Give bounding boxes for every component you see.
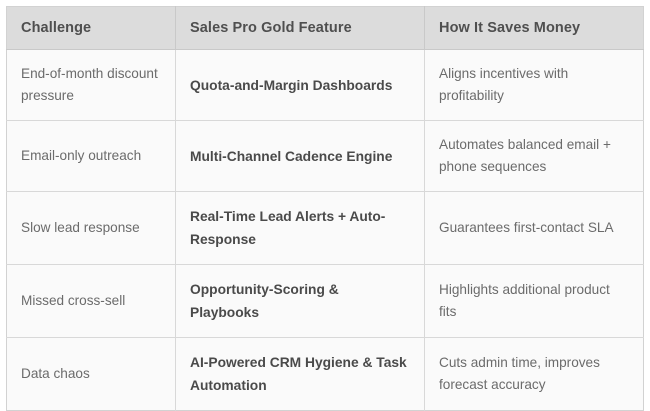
comparison-table-container: Challenge Sales Pro Gold Feature How It … — [6, 6, 643, 411]
column-header-feature: Sales Pro Gold Feature — [176, 7, 425, 50]
table-body: End-of-month discount pressure Quota-and… — [7, 50, 644, 411]
cell-challenge: Data chaos — [7, 338, 176, 411]
cell-savings: Highlights additional product fits — [425, 265, 644, 338]
cell-feature: Opportunity-Scoring & Playbooks — [176, 265, 425, 338]
cell-challenge: Email-only outreach — [7, 121, 176, 192]
table-row: Data chaos AI-Powered CRM Hygiene & Task… — [7, 338, 644, 411]
cell-savings: Guarantees first-contact SLA — [425, 192, 644, 265]
cell-savings: Aligns incentives with profitability — [425, 50, 644, 121]
table-row: Email-only outreach Multi-Channel Cadenc… — [7, 121, 644, 192]
table-header: Challenge Sales Pro Gold Feature How It … — [7, 7, 644, 50]
cell-challenge: Missed cross-sell — [7, 265, 176, 338]
cell-savings: Automates balanced email + phone sequenc… — [425, 121, 644, 192]
table-row: Missed cross-sell Opportunity-Scoring & … — [7, 265, 644, 338]
cell-feature: Real-Time Lead Alerts + Auto-Response — [176, 192, 425, 265]
table-row: End-of-month discount pressure Quota-and… — [7, 50, 644, 121]
table-header-row: Challenge Sales Pro Gold Feature How It … — [7, 7, 644, 50]
cell-feature: Quota-and-Margin Dashboards — [176, 50, 425, 121]
cell-challenge: Slow lead response — [7, 192, 176, 265]
cell-feature: AI-Powered CRM Hygiene & Task Automation — [176, 338, 425, 411]
table-row: Slow lead response Real-Time Lead Alerts… — [7, 192, 644, 265]
sales-pro-gold-comparison-table: Challenge Sales Pro Gold Feature How It … — [6, 6, 644, 411]
column-header-savings: How It Saves Money — [425, 7, 644, 50]
cell-feature: Multi-Channel Cadence Engine — [176, 121, 425, 192]
column-header-challenge: Challenge — [7, 7, 176, 50]
cell-challenge: End-of-month discount pressure — [7, 50, 176, 121]
cell-savings: Cuts admin time, improves forecast accur… — [425, 338, 644, 411]
